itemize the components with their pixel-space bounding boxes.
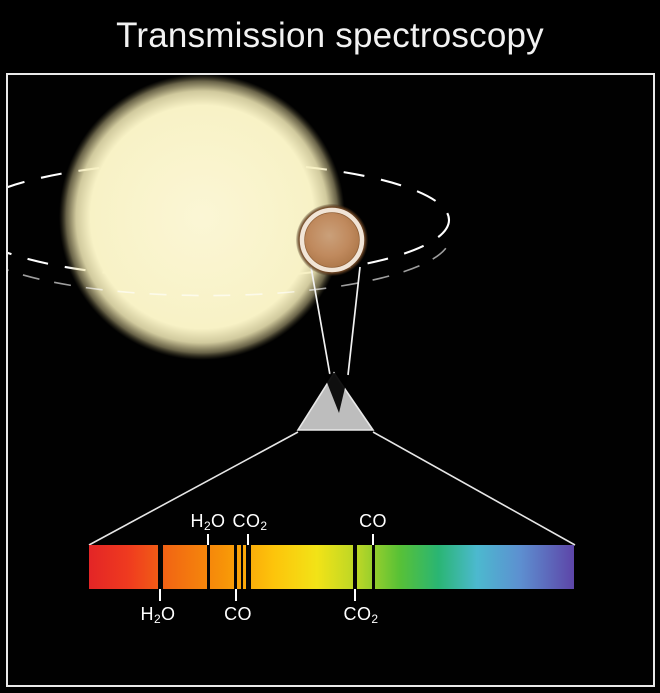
spectrum-label-co2-above: CO2 [233,512,268,530]
absorption-line-h2o-upper [207,545,210,589]
spectrum-label-co-below: CO [224,605,252,623]
prism [298,373,373,430]
planet-disc [305,213,359,267]
dispersed-beam [89,432,575,545]
spectrum-bar [89,534,574,601]
figure-stage: H2O CO2 CO H2O CO CO2 [8,75,653,685]
label-text-co-above: CO [359,511,387,531]
screenshot-root: Transmission spectroscopy [0,0,660,693]
label-text-co2-below: CO2 [344,604,379,624]
ray-right-out [373,432,575,545]
absorption-line-co2-upper-a [241,545,243,589]
absorption-line-co-upper [372,545,375,589]
spectrum-label-co2-below: CO2 [344,605,379,623]
label-text-co-below: CO [224,604,252,624]
absorption-line-co-lower [234,545,237,589]
spectrum-label-h2o-below: H2O [141,605,176,623]
label-text-co2-above: CO2 [233,511,268,531]
title-bar: Transmission spectroscopy [0,0,660,72]
label-text-h2o-above: H2O [191,511,226,531]
absorption-line-co2-lower [353,545,357,589]
figure-frame: H2O CO2 CO H2O CO CO2 [6,73,655,687]
page-title: Transmission spectroscopy [116,16,544,56]
label-text-h2o-below: H2O [141,604,176,624]
planet [296,204,368,276]
star [59,75,345,360]
spectrum-label-co-above: CO [359,512,387,530]
diagram-canvas [8,75,653,685]
star-disc [59,75,345,360]
absorption-line-h2o-lower [158,545,163,589]
absorption-line-co2-upper-b [246,545,251,589]
spectrum-label-h2o-above: H2O [191,512,226,530]
